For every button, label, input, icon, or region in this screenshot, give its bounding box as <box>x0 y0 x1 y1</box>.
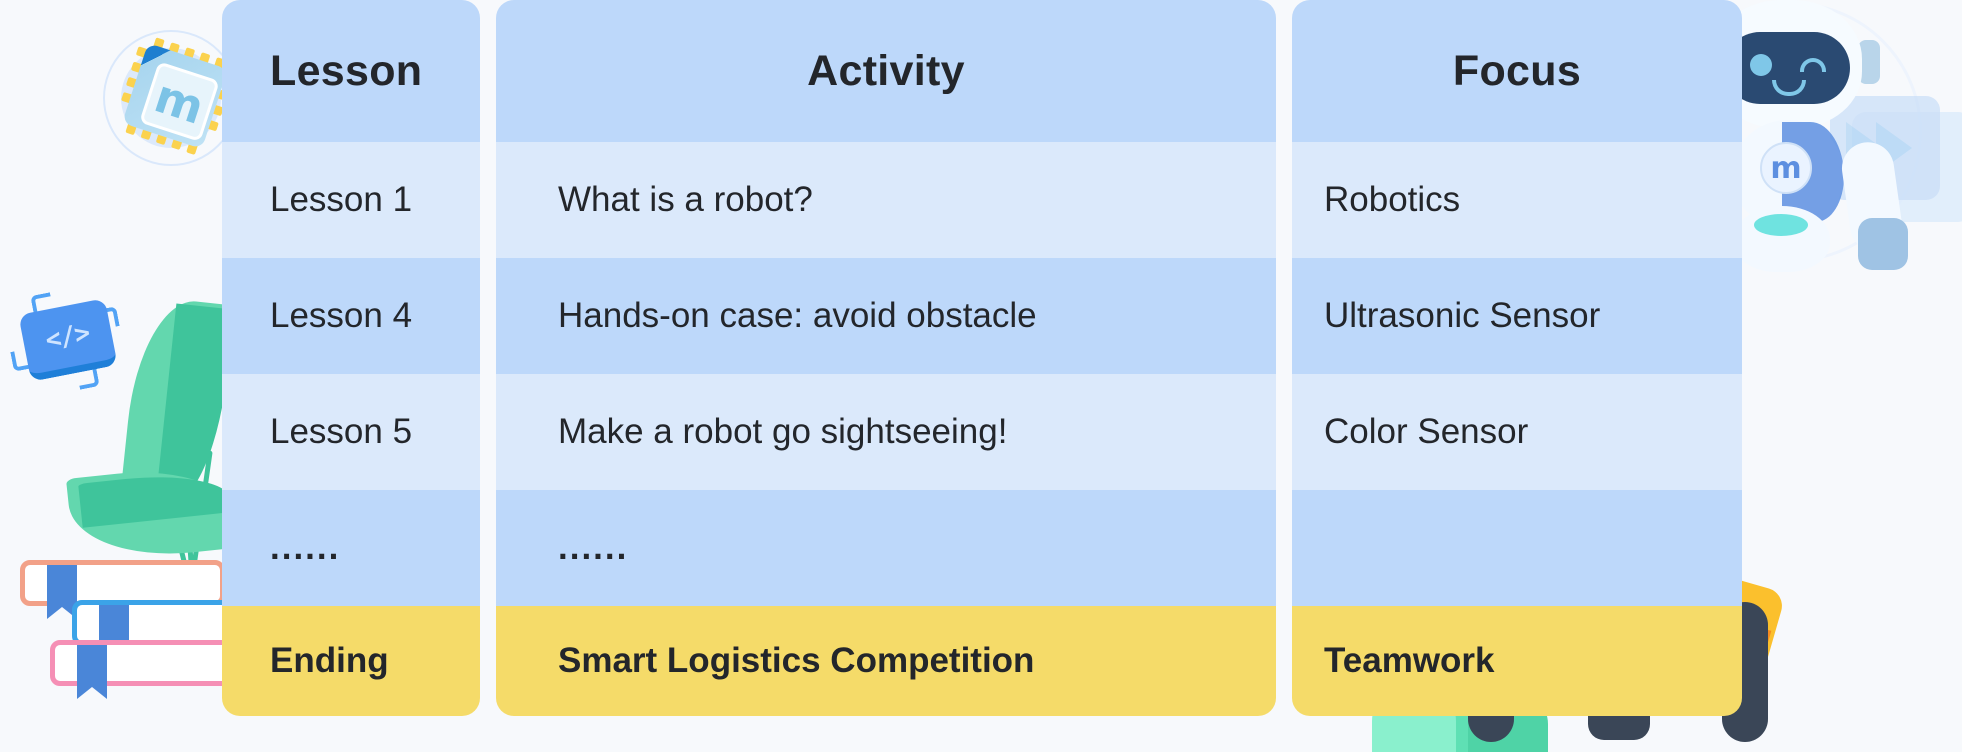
chip-logo-letter: m <box>139 61 220 142</box>
column-lesson: Lesson Lesson 1 Lesson 4 Lesson 5 ......… <box>222 0 480 718</box>
table-cell-focus <box>1292 490 1742 606</box>
table-cell-lesson: Lesson 4 <box>222 258 480 374</box>
bookmark-icon <box>47 565 77 607</box>
column-header-lesson: Lesson <box>222 0 480 142</box>
table-cell-focus: Color Sensor <box>1292 374 1742 490</box>
table-cell-activity: What is a robot? <box>496 142 1276 258</box>
plant-leaf <box>66 461 244 564</box>
slide-canvas: m </> <box>0 0 1962 752</box>
play-card-back <box>1852 112 1962 222</box>
book-item <box>50 640 235 686</box>
bracket-bottom-left <box>10 348 33 371</box>
book-item <box>20 560 225 606</box>
chip-body: m <box>112 33 238 159</box>
column-header-focus: Focus <box>1292 0 1742 142</box>
bookmark-icon <box>77 645 107 687</box>
table-cell-focus: Robotics <box>1292 142 1742 258</box>
plant-stem <box>188 450 212 589</box>
table-cell-lesson: Lesson 5 <box>222 374 480 490</box>
chip-core: m <box>122 43 228 149</box>
column-focus: Focus Robotics Ultrasonic Sensor Color S… <box>1292 0 1742 718</box>
chip-halo-inner <box>121 48 221 148</box>
table-cell-activity: Hands-on case: avoid obstacle <box>496 258 1276 374</box>
code-tile-glyph: </> <box>18 298 117 382</box>
play-icon <box>1846 122 1882 174</box>
table-cell-lesson: Lesson 1 <box>222 142 480 258</box>
curriculum-table: Lesson Lesson 1 Lesson 4 Lesson 5 ......… <box>222 0 1742 718</box>
column-activity: Activity What is a robot? Hands-on case:… <box>496 0 1276 718</box>
mascot-visor <box>1724 32 1850 104</box>
mascot-eye <box>1750 54 1772 76</box>
plant-leaf <box>78 468 232 527</box>
table-cell-activity: ...... <box>496 490 1276 606</box>
plant-leaf <box>119 296 232 514</box>
mascot-wink-eye <box>1800 58 1826 72</box>
mascot-logo-letter: m <box>1760 142 1812 194</box>
books-illustration <box>12 560 252 690</box>
play-icon <box>1876 122 1912 174</box>
table-cell-lesson: ...... <box>222 490 480 606</box>
table-cell-focus: Ultrasonic Sensor <box>1292 258 1742 374</box>
mascot-smile <box>1772 80 1806 96</box>
code-tile-icon: </> <box>10 288 130 408</box>
mascot-arm-right <box>1839 139 1906 255</box>
table-cell-focus-ending: Teamwork <box>1292 606 1742 716</box>
table-cell-activity-ending: Smart Logistics Competition <box>496 606 1276 716</box>
mascot-base <box>1734 206 1830 272</box>
mascot-torso-accent <box>1782 122 1844 222</box>
play-card-front <box>1830 96 1940 200</box>
bracket-top-right <box>96 306 119 329</box>
bookmark-icon <box>99 605 129 647</box>
mascot-body <box>1732 120 1844 226</box>
table-cell-lesson-ending: Ending <box>222 606 480 716</box>
mascot-hand-right <box>1858 218 1908 270</box>
chip-halo-outer <box>103 30 239 166</box>
plant-stem <box>159 469 194 592</box>
bracket-bottom-right <box>76 366 99 389</box>
mascot-ear <box>1858 40 1880 84</box>
column-header-activity: Activity <box>496 0 1276 142</box>
mascot-thruster-ring <box>1754 214 1808 236</box>
plant-stem <box>181 460 195 592</box>
table-cell-activity: Make a robot go sightseeing! <box>496 374 1276 490</box>
bracket-top-left <box>30 292 53 315</box>
